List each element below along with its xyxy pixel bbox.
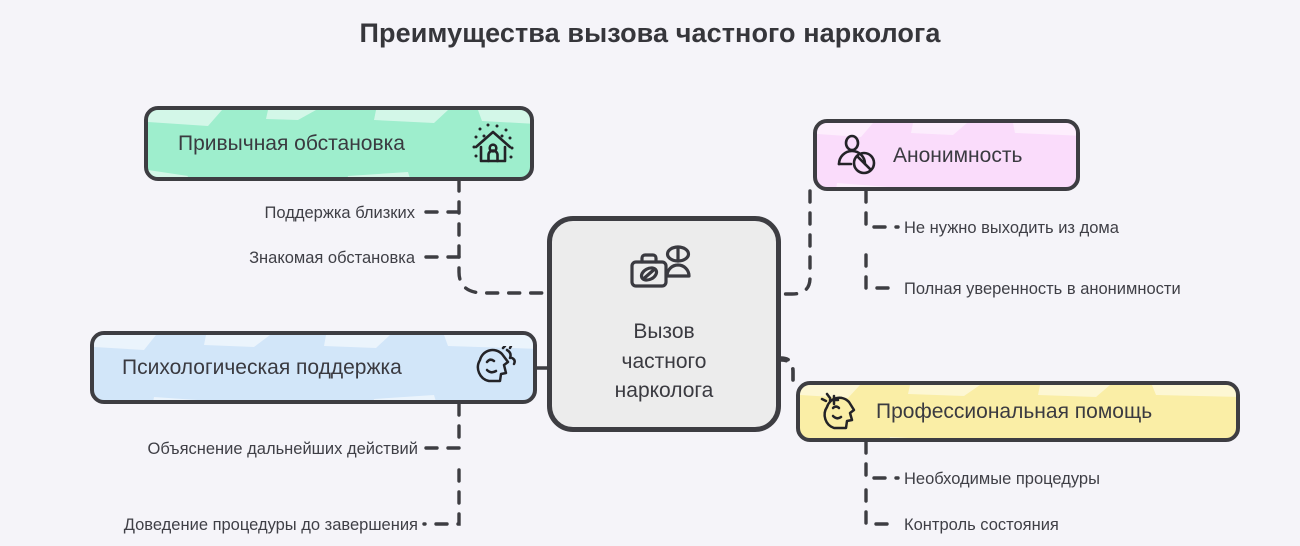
branch-node-professional-help[interactable]: Профессиональная помощь: [796, 381, 1240, 442]
leaf-familiar-environment-1: Поддержка близких: [0, 205, 415, 222]
branch-label-familiar-environment: Привычная обстановка: [178, 133, 405, 154]
head-medical-cross-icon: [818, 390, 862, 434]
branch-label-psychological-support: Психологическая поддержка: [122, 357, 402, 378]
branch-label-professional-help: Профессиональная помощь: [876, 401, 1152, 422]
center-node-label: Вызов частного нарколога: [615, 317, 714, 406]
leaf-familiar-environment-2: Знакомая обстановка: [0, 250, 415, 267]
leaf-professional-help-1: Необходимые процедуры: [904, 471, 1100, 488]
page-title: Преимущества вызова частного нарколога: [0, 18, 1300, 49]
branch-node-psychological-support[interactable]: Психологическая поддержка: [90, 331, 537, 404]
branch-node-anonymity[interactable]: Анонимность: [813, 119, 1080, 191]
branch-label-anonymity: Анонимность: [893, 145, 1022, 166]
head-thought-icon: [473, 346, 519, 390]
mindmap-canvas: Преимущества вызова частного нарколога: [0, 0, 1300, 546]
leaf-psychological-support-2: Доведение процедуры до завершения: [0, 517, 418, 534]
doctor-bag-icon: [626, 242, 702, 305]
branch-node-familiar-environment[interactable]: Привычная обстановка: [144, 106, 534, 181]
center-node[interactable]: Вызов частного нарколога: [547, 216, 781, 432]
house-family-icon: [470, 121, 516, 167]
leaf-anonymity-2: Полная уверенность в анонимности: [904, 281, 1181, 298]
leaf-anonymity-1: Не нужно выходить из дома: [904, 220, 1119, 237]
leaf-psychological-support-1: Объяснение дальнейших действий: [0, 441, 418, 458]
person-no-entry-icon: [835, 133, 879, 177]
leaf-professional-help-2: Контроль состояния: [904, 517, 1059, 534]
